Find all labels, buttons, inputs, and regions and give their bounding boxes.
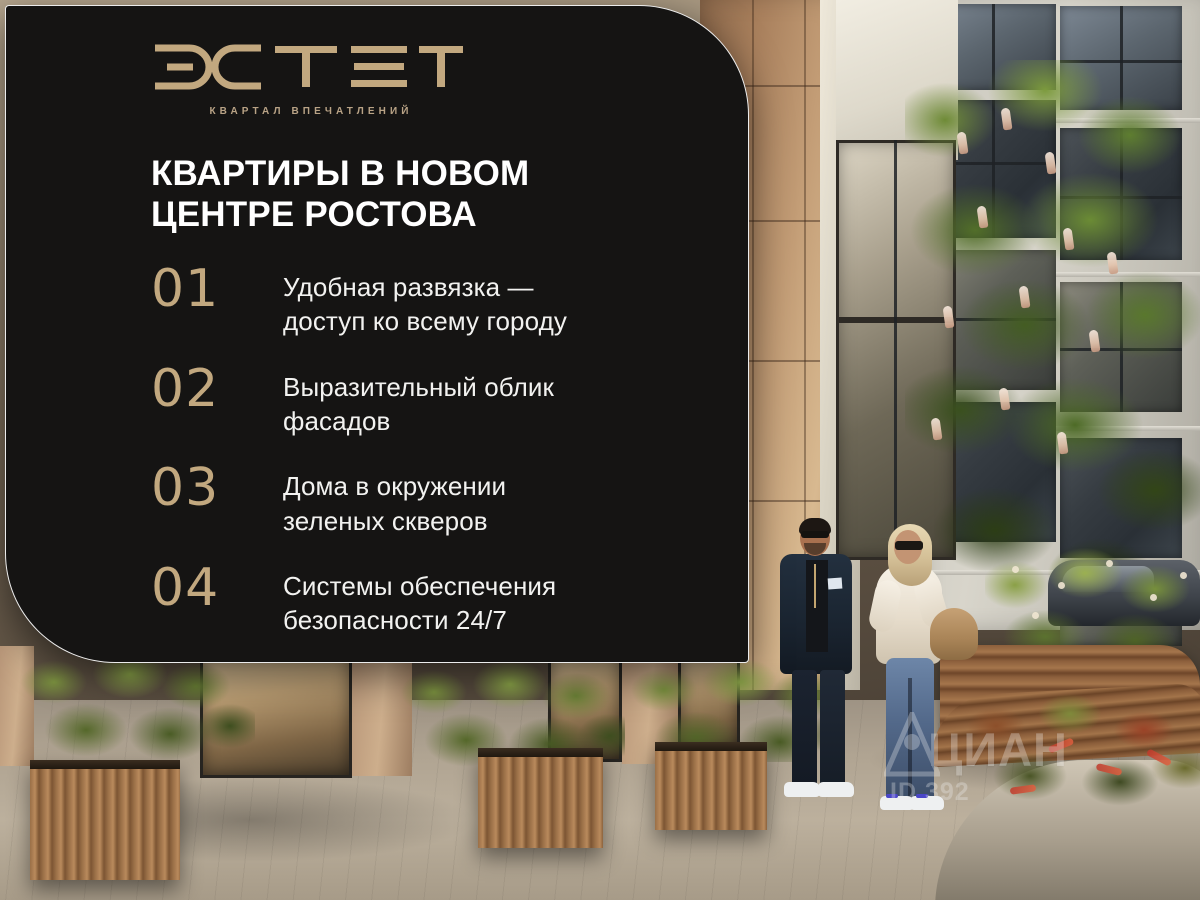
hedge-flower	[1150, 594, 1157, 601]
feature-item-02: 02 Выразительный облик фасадов	[151, 364, 731, 439]
advertisement-banner: КВАРТАЛ ВПЕЧАТЛЕНИЙ КВАРТИРЫ В НОВОМ ЦЕН…	[0, 0, 1200, 900]
info-panel: КВАРТАЛ ВПЕЧАТЛЕНИЙ КВАРТИРЫ В НОВОМ ЦЕН…	[5, 5, 749, 663]
feature-text: Удобная развязка — доступ ко всему город…	[283, 264, 731, 339]
feature-item-01: 01 Удобная развязка — доступ ко всему го…	[151, 264, 731, 339]
estet-wordmark-icon	[151, 41, 463, 93]
feature-text: Выразительный облик фасадов	[283, 364, 731, 439]
feature-number: 01	[151, 264, 283, 315]
window-mullion	[894, 140, 897, 560]
feature-text: Дома в окружении зеленых скверов	[283, 463, 731, 538]
hedge-flower	[1032, 612, 1039, 619]
feature-text-line-1: Удобная развязка —	[283, 272, 534, 302]
hedge-flower	[1058, 582, 1065, 589]
feature-text: Системы обеспечения безопасности 24/7	[283, 563, 731, 638]
hedge-flower	[1106, 560, 1113, 567]
feature-list: 01 Удобная развязка — доступ ко всему го…	[151, 264, 731, 638]
person-woman	[868, 528, 983, 818]
hedge-flower	[1180, 572, 1187, 579]
headline-line-1: КВАРТИРЫ В НОВОМ	[151, 154, 711, 195]
flower-bed-foliage	[960, 690, 1200, 840]
feature-text-line-1: Выразительный облик	[283, 372, 554, 402]
planter-shrub	[20, 652, 255, 772]
feature-item-03: 03 Дома в окружении зеленых скверов	[151, 463, 731, 538]
feature-number: 04	[151, 563, 283, 614]
wooden-planter	[655, 742, 767, 830]
headline-line-2: ЦЕНТРЕ РОСТОВА	[151, 195, 711, 236]
hedge-flower	[1012, 566, 1019, 573]
person-man	[778, 520, 868, 810]
feature-text-line-2: безопасности 24/7	[283, 605, 507, 635]
feature-text-line-2: фасадов	[283, 406, 390, 436]
wooden-planter	[478, 748, 603, 848]
wooden-planter	[30, 760, 180, 880]
feature-text-line-1: Дома в окружении	[283, 471, 506, 501]
feature-text-line-2: доступ ко всему городу	[283, 306, 567, 336]
feature-item-04: 04 Системы обеспечения безопасности 24/7	[151, 563, 731, 638]
brand-logo: КВАРТАЛ ВПЕЧАТЛЕНИЙ	[151, 41, 471, 117]
feature-text-line-1: Системы обеспечения	[283, 571, 556, 601]
page-title: КВАРТИРЫ В НОВОМ ЦЕНТРЕ РОСТОВА	[151, 154, 711, 235]
feature-text-line-2: зеленых скверов	[283, 506, 488, 536]
feature-number: 03	[151, 463, 283, 514]
brand-tagline: КВАРТАЛ ВПЕЧАТЛЕНИЙ	[151, 106, 471, 117]
feature-number: 02	[151, 364, 283, 415]
